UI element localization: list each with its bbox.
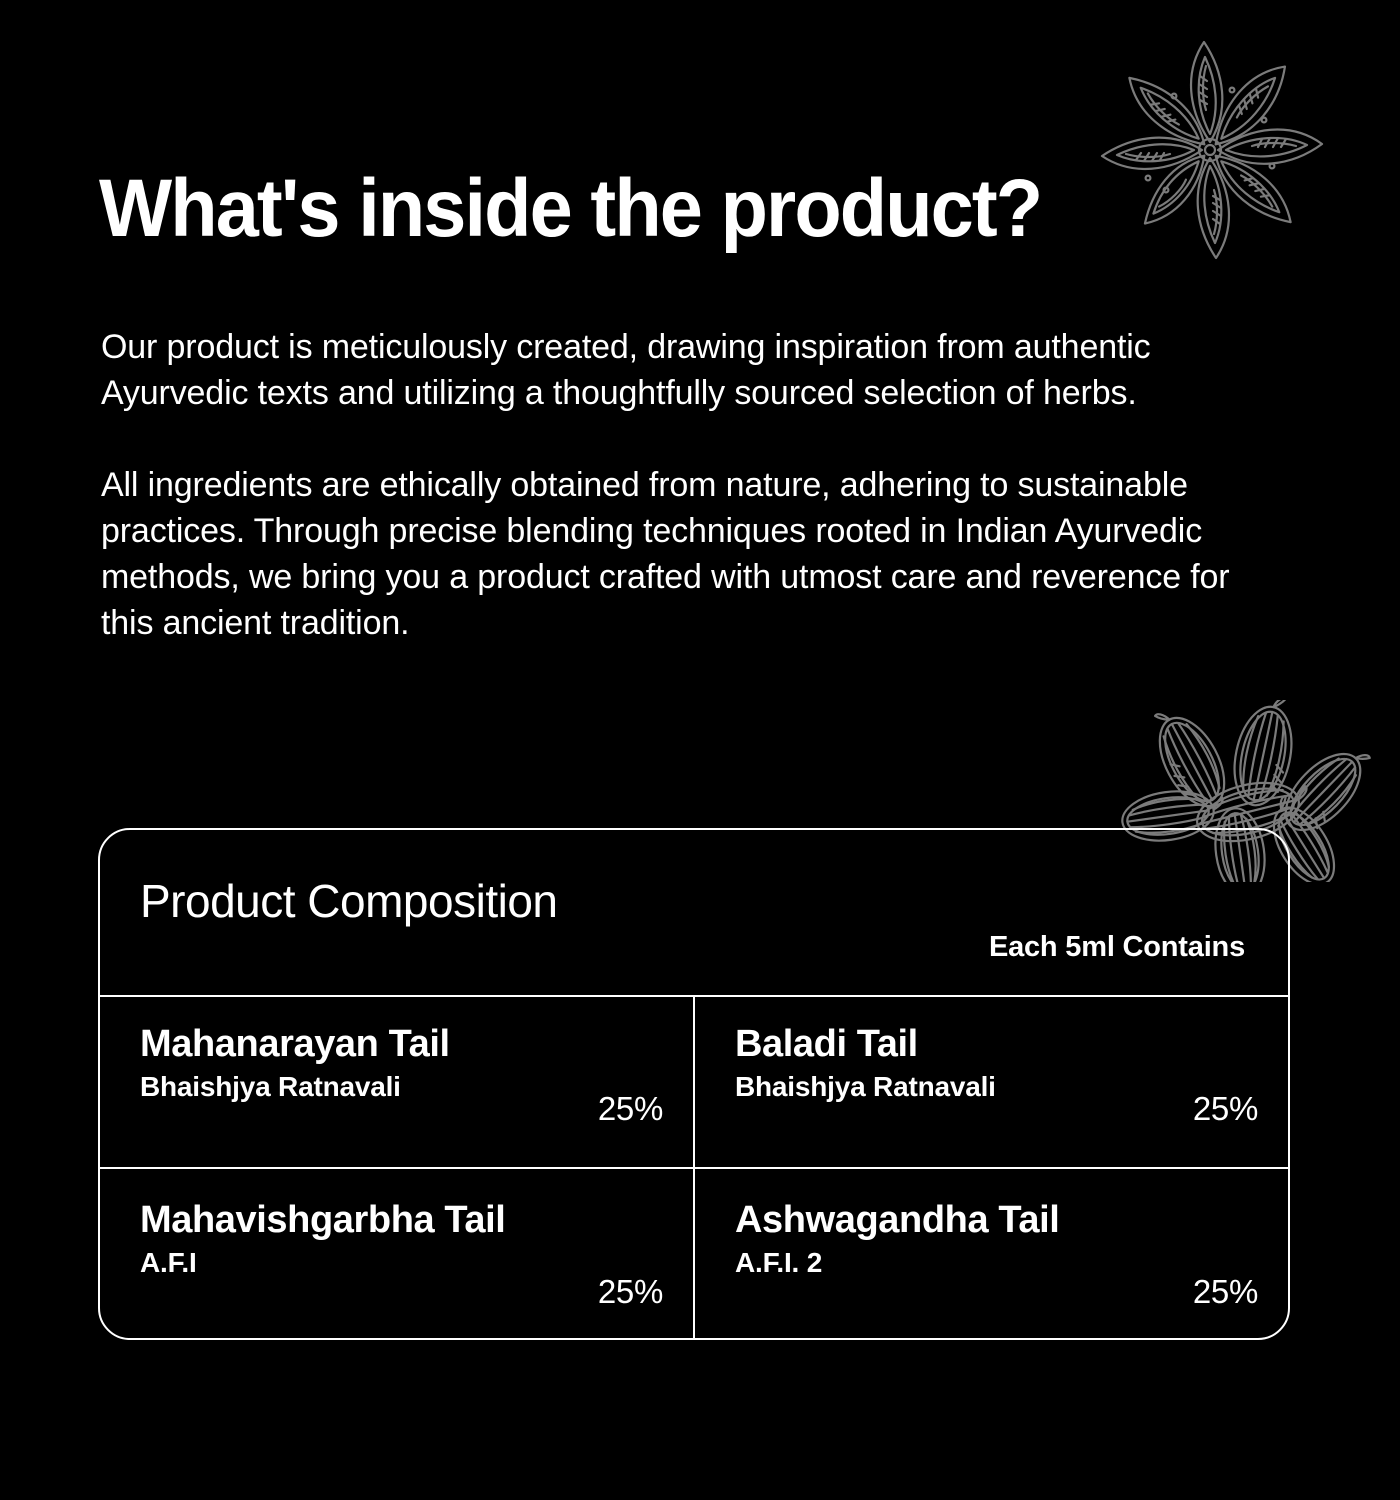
- dose-label: Each 5ml Contains: [989, 933, 1245, 962]
- composition-table: Mahanarayan Tail Bhaishjya Ratnavali 25%…: [100, 997, 1288, 1338]
- ingredient-percent: 25%: [1193, 1092, 1258, 1125]
- composition-card-header: Product Composition Each 5ml Contains: [100, 830, 1288, 997]
- page-title: What's inside the product?: [99, 168, 1261, 250]
- ingredient-name: Ashwagandha Tail: [735, 1197, 1288, 1243]
- product-composition-card: Product Composition Each 5ml Contains Ma…: [98, 828, 1290, 1340]
- composition-row: Mahavishgarbha Tail A.F.I 25% Ashwagandh…: [100, 1169, 1288, 1339]
- composition-item: Ashwagandha Tail A.F.I. 2 25%: [695, 1169, 1288, 1339]
- intro-text-block: Our product is meticulously created, dra…: [101, 324, 1261, 646]
- composition-title: Product Composition: [140, 878, 557, 924]
- ingredient-name: Mahavishgarbha Tail: [140, 1197, 693, 1243]
- composition-item: Mahanarayan Tail Bhaishjya Ratnavali 25%: [100, 997, 695, 1167]
- composition-item: Mahavishgarbha Tail A.F.I 25%: [100, 1169, 695, 1339]
- intro-paragraph-2: All ingredients are ethically obtained f…: [101, 462, 1261, 646]
- ingredient-percent: 25%: [598, 1092, 663, 1125]
- composition-row: Mahanarayan Tail Bhaishjya Ratnavali 25%…: [100, 997, 1288, 1169]
- ingredient-name: Mahanarayan Tail: [140, 1021, 693, 1067]
- intro-paragraph-1: Our product is meticulously created, dra…: [101, 324, 1261, 416]
- ingredient-percent: 25%: [598, 1275, 663, 1308]
- ingredient-percent: 25%: [1193, 1275, 1258, 1308]
- ingredient-name: Baladi Tail: [735, 1021, 1288, 1067]
- composition-item: Baladi Tail Bhaishjya Ratnavali 25%: [695, 997, 1288, 1167]
